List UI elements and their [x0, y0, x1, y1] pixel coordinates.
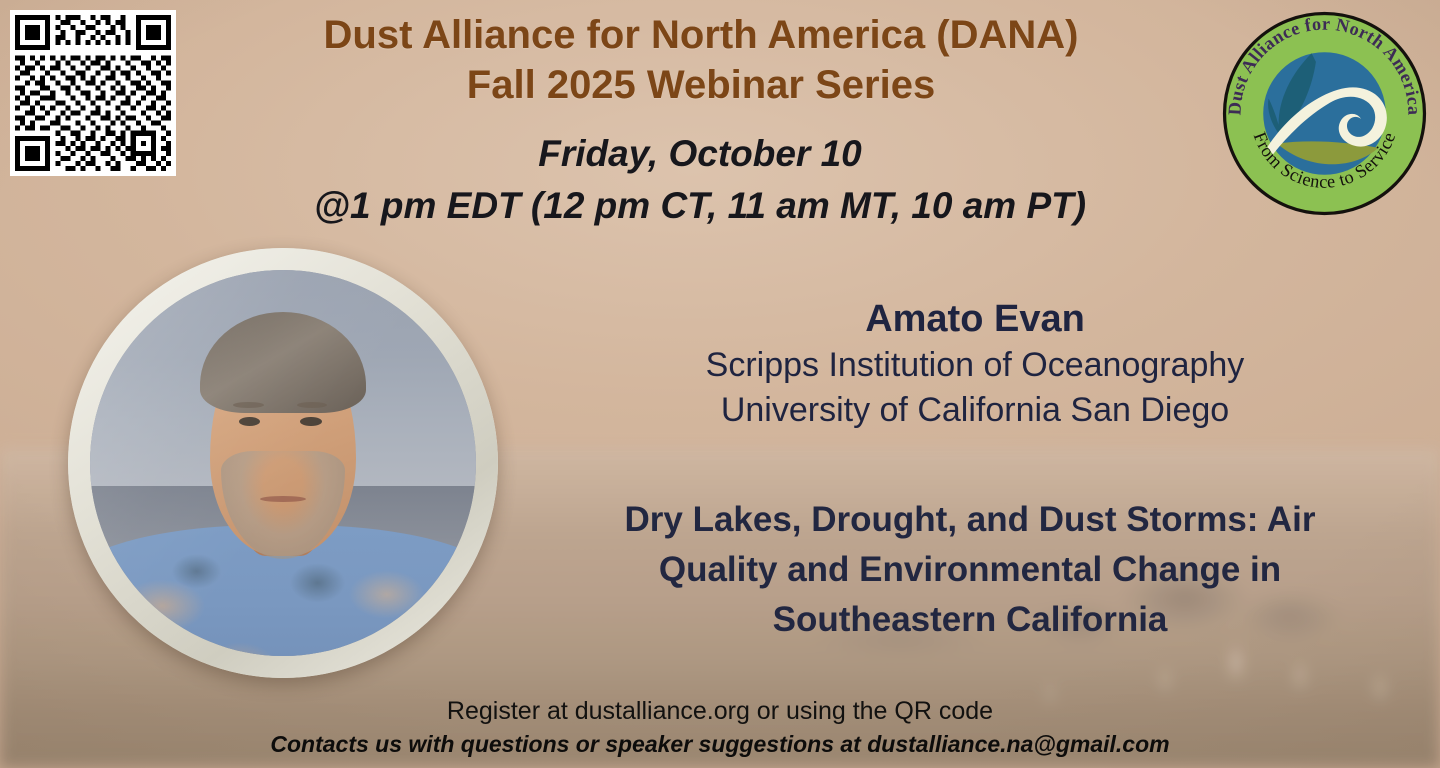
speaker-name: Amato Evan: [540, 296, 1410, 343]
speaker-affiliation-1: Scripps Institution of Oceanography: [540, 343, 1410, 388]
talk-title-line-3: Southeastern California: [520, 595, 1420, 645]
speaker-photo: [90, 270, 476, 656]
webinar-poster: Dust Alliance for North America From Sci…: [0, 0, 1440, 768]
contact-text[interactable]: Contacts us with questions or speaker su…: [0, 728, 1440, 760]
speaker-portrait: [68, 248, 498, 678]
webinar-date: Friday, October 10: [170, 128, 1230, 180]
photo-eye-left: [239, 417, 261, 426]
schedule-block: Friday, October 10 @1 pm EDT (12 pm CT, …: [170, 128, 1230, 232]
talk-title: Dry Lakes, Drought, and Dust Storms: Air…: [520, 495, 1420, 645]
poster-footer: Register at dustalliance.org or using th…: [0, 694, 1440, 760]
dana-logo-icon: Dust Alliance for North America From Sci…: [1217, 6, 1432, 221]
dana-logo: Dust Alliance for North America From Sci…: [1217, 6, 1432, 221]
series-title-line-1: Dust Alliance for North America (DANA): [190, 10, 1212, 60]
poster-header: Dust Alliance for North America (DANA) F…: [190, 10, 1212, 110]
photo-mouth: [260, 496, 306, 502]
qr-code-icon: [10, 10, 176, 176]
talk-title-line-2: Quality and Environmental Change in: [520, 545, 1420, 595]
photo-eye-right: [300, 417, 322, 426]
registration-text[interactable]: Register at dustalliance.org or using th…: [0, 694, 1440, 728]
talk-title-line-1: Dry Lakes, Drought, and Dust Storms: Air: [520, 495, 1420, 545]
speaker-affiliation-2: University of California San Diego: [540, 388, 1410, 433]
series-title-line-2: Fall 2025 Webinar Series: [190, 60, 1212, 110]
speaker-info: Amato Evan Scripps Institution of Oceano…: [540, 296, 1410, 433]
qr-code[interactable]: [10, 10, 176, 176]
webinar-time: @1 pm EDT (12 pm CT, 11 am MT, 10 am PT): [170, 180, 1230, 232]
